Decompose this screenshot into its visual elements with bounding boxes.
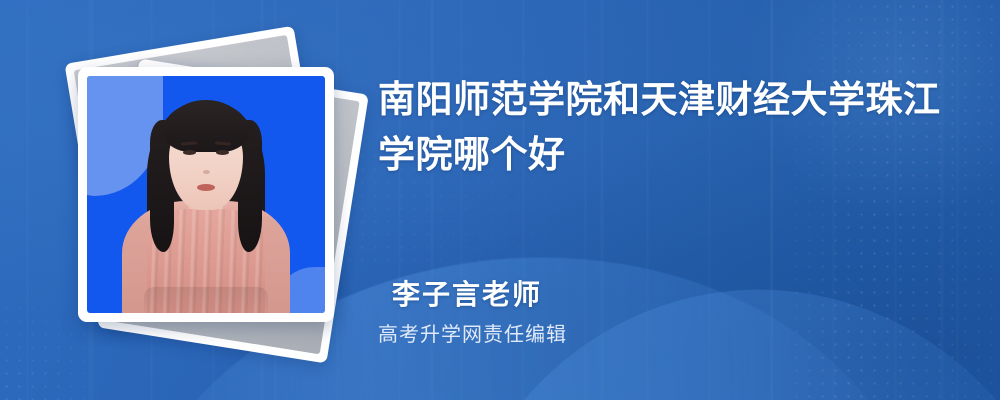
portrait-hair-fringe — [163, 102, 249, 152]
author-role: 高考升学网责任编辑 — [378, 318, 567, 347]
author-photo-stack — [55, 45, 355, 355]
portrait-nose — [203, 170, 210, 174]
author-portrait-photo — [87, 76, 325, 313]
portrait-eye-left — [183, 150, 196, 155]
portrait-dress-waist — [144, 287, 268, 313]
portrait-figure — [87, 76, 325, 313]
banner-text-column: 南阳师范学院和天津财经大学珠江学院哪个好 李子言老师 高考升学网责任编辑 — [378, 0, 978, 400]
article-headline: 南阳师范学院和天津财经大学珠江学院哪个好 — [378, 72, 968, 182]
portrait-mouth — [197, 184, 215, 191]
portrait-eye-right — [216, 150, 229, 155]
article-cover-banner: 南阳师范学院和天津财经大学珠江学院哪个好 李子言老师 高考升学网责任编辑 — [0, 0, 1000, 400]
author-photo-card — [78, 67, 334, 322]
author-name: 李子言老师 — [392, 273, 542, 313]
